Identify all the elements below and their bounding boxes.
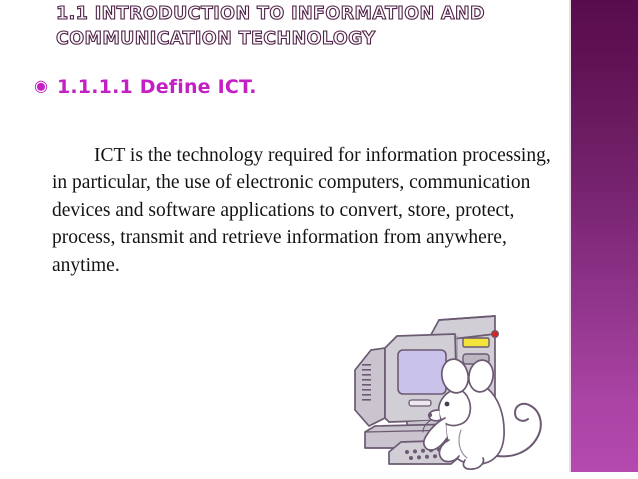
- mouse-at-computer-clipart: [345, 306, 571, 474]
- slide-title: 1.1 Introduction to Information and Comm…: [56, 2, 566, 52]
- decorative-gradient-bar: [571, 0, 638, 472]
- circled-dot-bullet-icon: ◉: [34, 79, 48, 95]
- heading-bullet-row: ◉ 1.1.1.1 Define ICT.: [34, 76, 257, 98]
- body-paragraph: ICT is the technology required for infor…: [52, 142, 562, 280]
- heading-label: 1.1.1.1 Define ICT.: [57, 76, 257, 98]
- slide: 1.1 Introduction to Information and Comm…: [0, 0, 638, 479]
